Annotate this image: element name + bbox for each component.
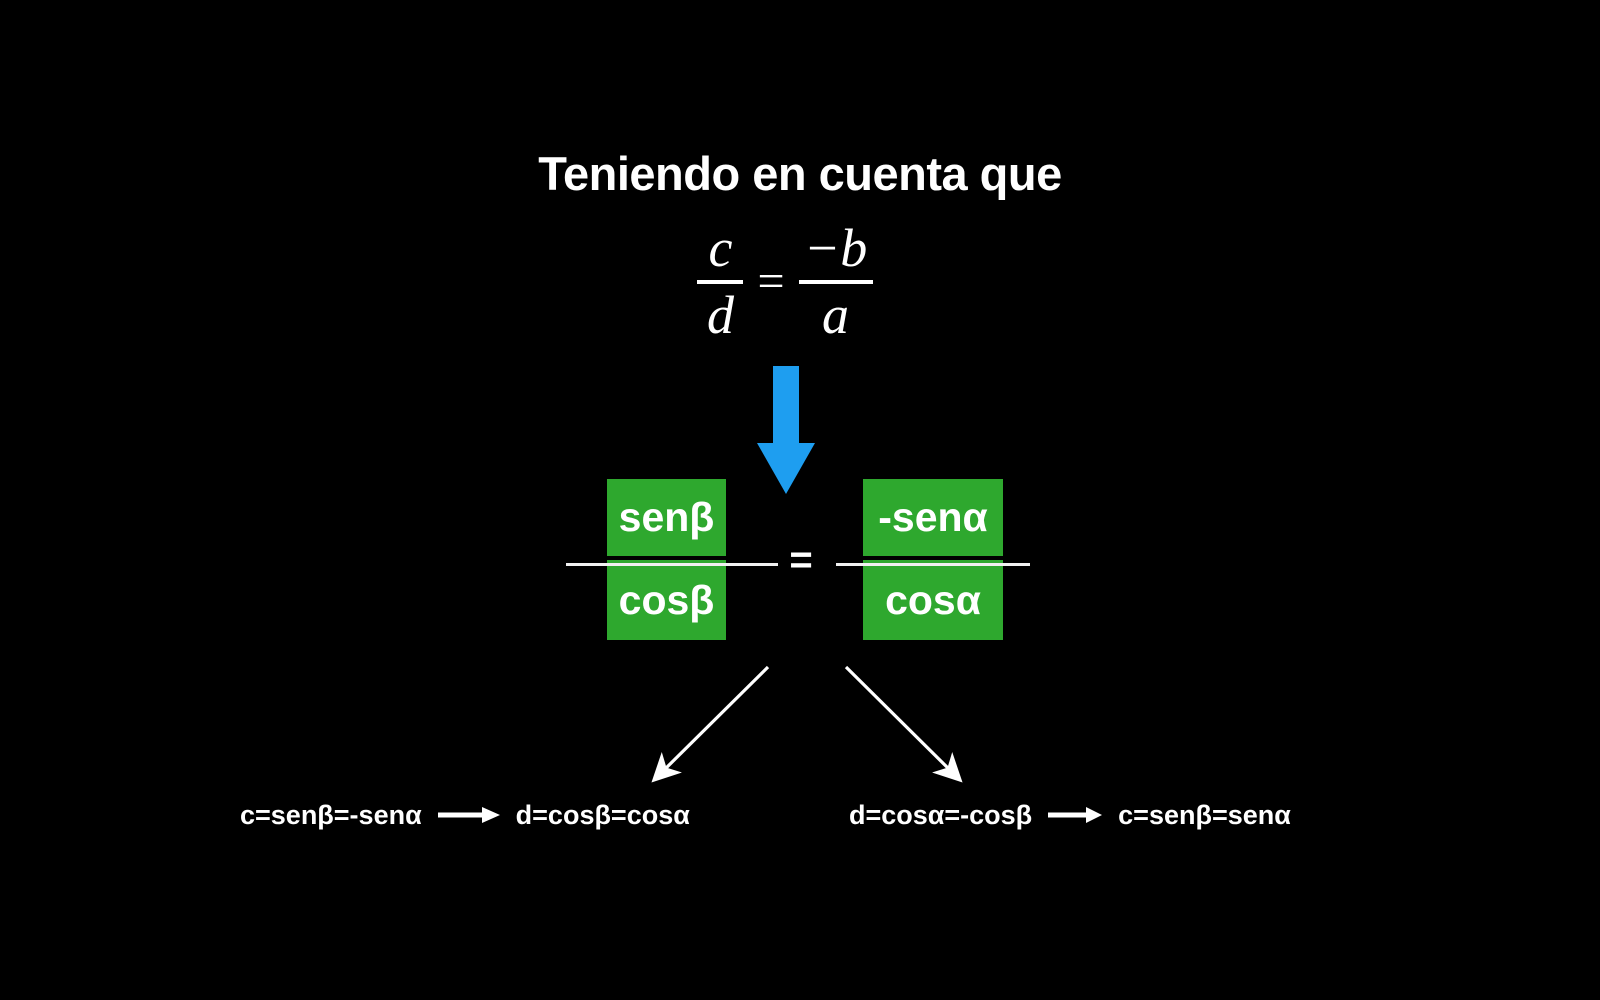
arrow-right-icon-svg <box>1048 806 1102 824</box>
arrow-down-left-icon <box>656 667 768 778</box>
split-arrows-svg <box>600 650 1020 795</box>
fraction-bar <box>697 280 743 284</box>
arrow-right-icon-svg <box>438 806 500 824</box>
slide-canvas: Teniendo en cuenta que c d = −b a senβ c… <box>0 0 1600 1000</box>
arrow-right-shape <box>1048 807 1102 823</box>
highlight-box-cos-alpha: cosα <box>863 560 1003 640</box>
split-arrows-group <box>600 650 1020 795</box>
conclusion-right-to: c=senβ=senα <box>1118 800 1291 831</box>
fraction-bar-left <box>566 563 778 566</box>
highlight-box-cos-beta: cosβ <box>607 560 726 640</box>
arrow-right-icon <box>438 800 500 831</box>
arrow-down-right-icon <box>846 667 958 778</box>
page-title: Teniendo en cuenta que <box>0 146 1600 201</box>
arrow-right-icon <box>1048 800 1102 831</box>
fraction-denominator: d <box>701 288 740 343</box>
conclusion-right: d=cosα=-cosβ c=senβ=senα <box>849 798 1291 832</box>
conclusion-left: c=senβ=-senα d=cosβ=cosα <box>240 798 690 832</box>
trig-identity: senβ cosβ = -senα cosα <box>0 470 1600 660</box>
equals-sign: = <box>743 258 798 306</box>
conclusion-left-to: d=cosβ=cosα <box>516 800 690 831</box>
fraction-minus-b-over-a: −b a <box>799 221 873 343</box>
arrow-right-shape <box>438 807 500 823</box>
fraction-numerator: c <box>702 221 738 276</box>
conclusion-right-from: d=cosα=-cosβ <box>849 800 1032 831</box>
conclusion-left-from: c=senβ=-senα <box>240 800 422 831</box>
fraction-bar-right <box>836 563 1030 566</box>
fraction-denominator: a <box>816 288 855 343</box>
equals-sign: = <box>779 540 823 580</box>
fraction-c-over-d: c d <box>697 221 743 343</box>
fraction-bar <box>799 280 873 284</box>
top-equation: c d = −b a <box>660 212 910 352</box>
fraction-numerator: −b <box>798 221 873 276</box>
highlight-box-minus-sen-alpha: -senα <box>863 479 1003 556</box>
highlight-box-sen-beta: senβ <box>607 479 726 556</box>
